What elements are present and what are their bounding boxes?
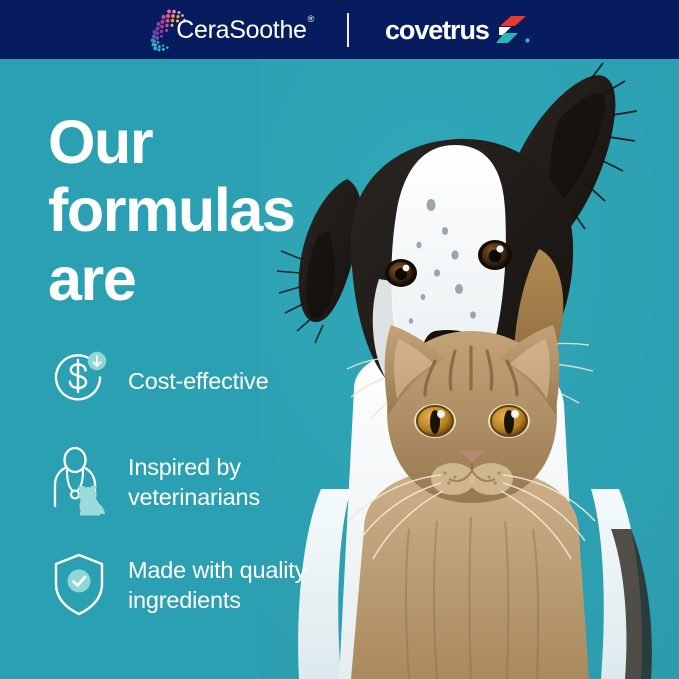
brand-row: CeraSoothe® covetrus xyxy=(148,8,531,52)
covetrus-wordmark: covetrus xyxy=(385,17,489,44)
veterinarian-with-cat-icon xyxy=(48,446,110,518)
cerasoothe-name: CeraSoothe xyxy=(176,16,306,44)
ad-banner: CeraSoothe® covetrus Our formulas xyxy=(0,0,679,679)
covetrus-logo: covetrus xyxy=(385,15,531,45)
feature-item-cost-effective: Cost-effective xyxy=(48,348,368,414)
cerasoothe-wordmark: CeraSoothe® xyxy=(176,18,313,43)
hero-headline: Our formulas are xyxy=(48,108,294,313)
brand-divider xyxy=(347,13,349,47)
cerasoothe-trademark: ® xyxy=(308,14,314,24)
feature-list: Cost-effective xyxy=(48,348,368,652)
feature-label-inspired-by-veterinarians: Inspired by veterinarians xyxy=(128,452,368,512)
headline-line-2: formulas xyxy=(48,176,294,244)
covetrus-diamond-icon xyxy=(495,15,531,45)
dollar-circle-down-arrow-icon xyxy=(48,348,110,414)
brand-header-bar: CeraSoothe® covetrus xyxy=(0,0,679,59)
feature-label-cost-effective: Cost-effective xyxy=(128,366,268,396)
feature-item-inspired-by-veterinarians: Inspired by veterinarians xyxy=(48,446,368,518)
headline-line-3: are xyxy=(48,245,294,313)
cerasoothe-logo: CeraSoothe® xyxy=(148,8,313,52)
feature-label-made-with-quality-ingredients: Made with quality ingredients xyxy=(128,555,368,615)
headline-line-1: Our xyxy=(48,108,294,176)
shield-check-icon xyxy=(48,550,110,620)
feature-item-made-with-quality-ingredients: Made with quality ingredients xyxy=(48,550,368,620)
